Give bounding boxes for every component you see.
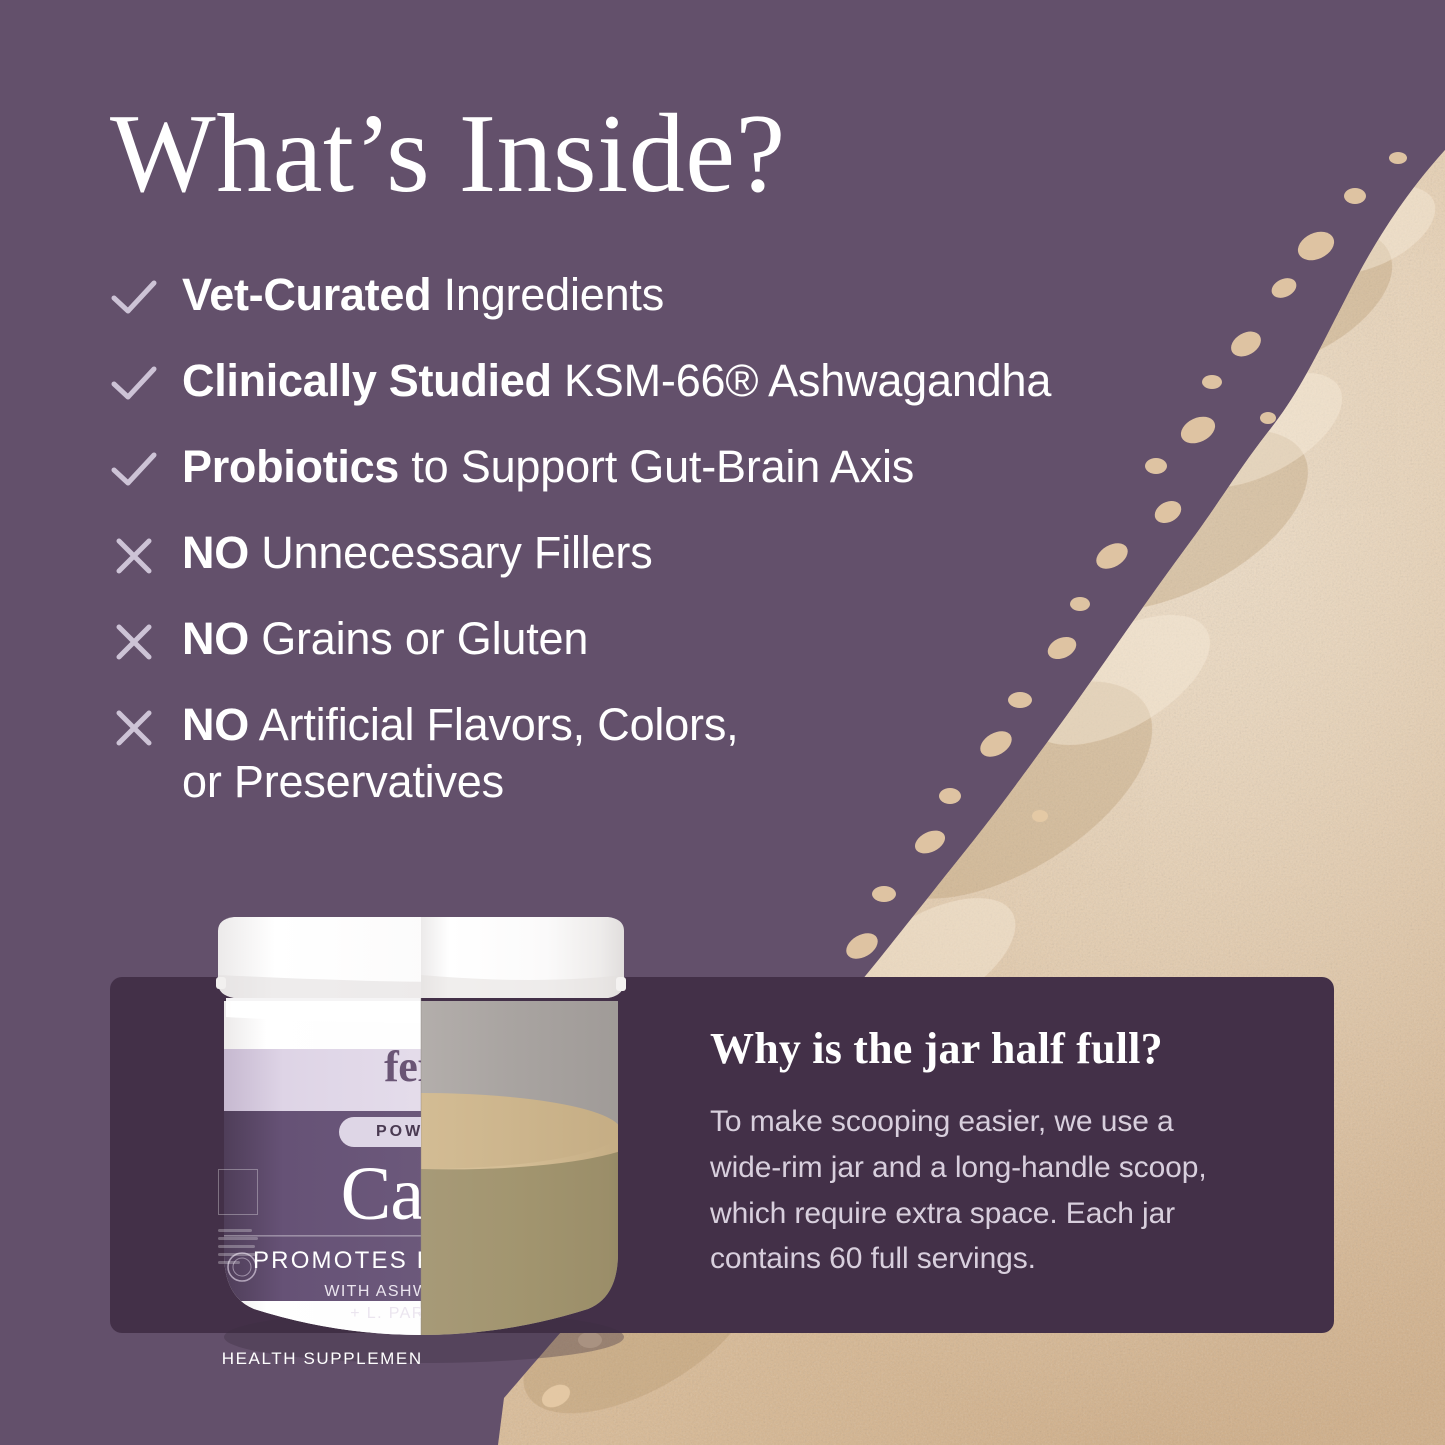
list-item-rest: KSM-66® Ashwagandha	[552, 355, 1051, 406]
jar-label-text-group: fera Calm PROMOTES RELAXATION WITH ASHWA…	[196, 905, 646, 1390]
list-item-label: NO Grains or Gluten	[182, 610, 588, 667]
powder-badge: POWDER	[339, 1117, 421, 1147]
list-item-bold: Vet-Curated	[182, 269, 431, 320]
list-item-bold: Probiotics	[182, 441, 399, 492]
list-item-bold: NO	[182, 527, 249, 578]
list-item-rest: Artificial Flavors, Colors, or Preservat…	[182, 699, 738, 807]
list-item-rest: Grains or Gluten	[249, 613, 588, 664]
check-icon	[108, 358, 160, 410]
check-icon	[108, 444, 160, 496]
brand-logo: fera	[196, 1041, 421, 1092]
product-footer: HEALTH SUPPLEMENT FOR DOGS & CATS	[196, 1349, 421, 1369]
list-item-label: Probiotics to Support Gut-Brain Axis	[182, 438, 914, 495]
powder-badge-label: POWDER	[376, 1123, 421, 1141]
list-item: Vet-Curated Ingredients	[108, 266, 1338, 324]
list-item-label: NO Artificial Flavors, Colors, or Preser…	[182, 696, 738, 810]
list-item: Clinically Studied KSM-66® Ashwagandha	[108, 352, 1338, 410]
list-item-rest: Ingredients	[431, 269, 664, 320]
page-title: What’s Inside?	[110, 96, 786, 214]
benefits-checklist: Vet-Curated Ingredients Clinically Studi…	[108, 266, 1338, 832]
list-item-label: Vet-Curated Ingredients	[182, 266, 664, 323]
cross-icon	[108, 530, 160, 582]
ingredient-line-1: WITH ASHWAGANDHA	[196, 1283, 421, 1301]
list-item: Probiotics to Support Gut-Brain Axis	[108, 438, 1338, 496]
list-item: NO Unnecessary Fillers	[108, 524, 1338, 582]
ingredient-line-2: + L. PARACASEI	[196, 1305, 421, 1323]
check-icon	[108, 272, 160, 324]
info-card-title: Why is the jar half full?	[710, 1025, 1290, 1073]
list-item-rest: to Support Gut-Brain Axis	[399, 441, 914, 492]
cross-icon	[108, 702, 160, 754]
product-jar: fera Calm PROMOTES RELAXATION WITH ASHWA…	[196, 905, 646, 1390]
list-item-label: NO Unnecessary Fillers	[182, 524, 653, 581]
infographic-canvas: What’s Inside? Vet-Curated Ingredients C…	[0, 0, 1445, 1445]
info-card-paragraph: To make scooping easier, we use a wide-r…	[710, 1099, 1210, 1281]
list-item-rest: Unnecessary Fillers	[249, 527, 653, 578]
info-card-body: Why is the jar half full? To make scoopi…	[710, 1025, 1290, 1282]
list-item-bold: NO	[182, 699, 249, 750]
list-item-bold: Clinically Studied	[182, 355, 552, 406]
dosing-microtext	[218, 1169, 258, 1269]
list-item: NO Grains or Gluten	[108, 610, 1338, 668]
cross-icon	[108, 616, 160, 668]
list-item-label: Clinically Studied KSM-66® Ashwagandha	[182, 352, 1051, 409]
list-item: NO Artificial Flavors, Colors, or Preser…	[108, 696, 1338, 810]
list-item-bold: NO	[182, 613, 249, 664]
